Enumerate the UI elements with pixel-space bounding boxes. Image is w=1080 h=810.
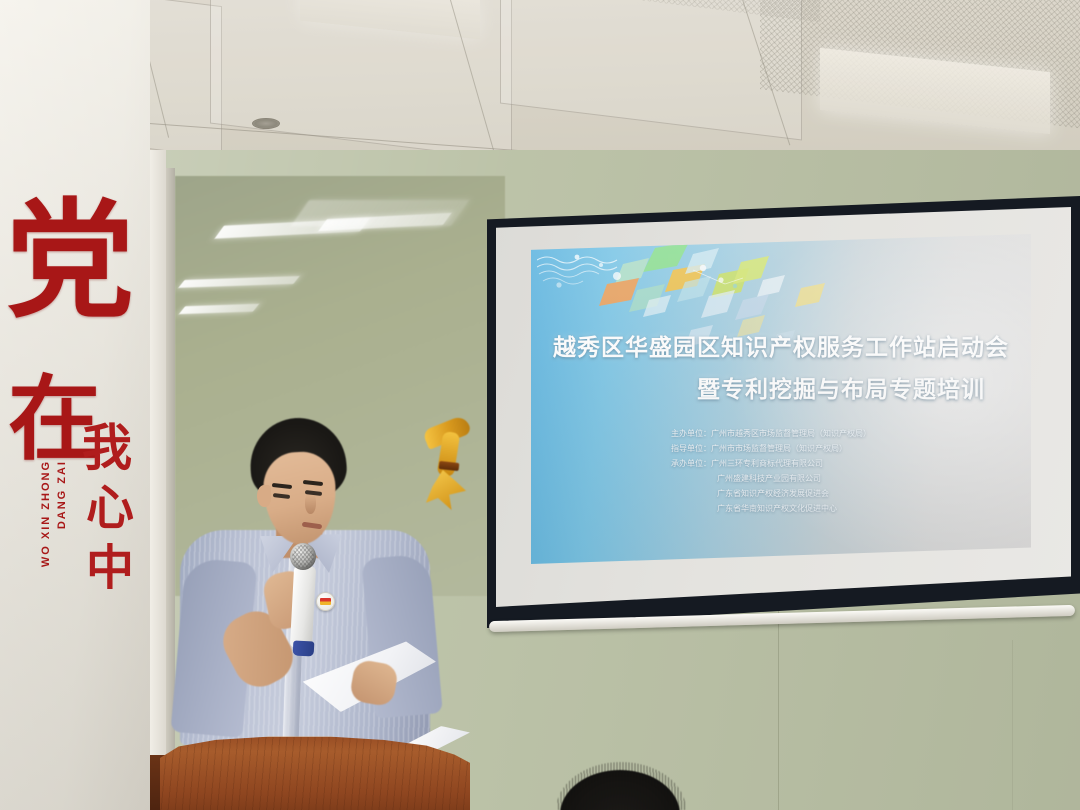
wooden-podium xyxy=(160,735,470,810)
microphone-body xyxy=(290,565,316,648)
wall-seam xyxy=(778,600,779,810)
light-reflection xyxy=(291,200,469,226)
microphone-base xyxy=(293,640,315,656)
ceiling-downlight xyxy=(252,118,280,129)
lapel-badge-icon xyxy=(316,592,335,611)
conference-photo: 党 在 我 心 中 DANG ZAI WO XIN ZHONG xyxy=(0,0,1080,810)
banner-pinyin-woxinzhong: WO XIN ZHONG xyxy=(40,460,52,567)
wall-seam xyxy=(1012,640,1013,810)
speaker-nose xyxy=(305,494,316,514)
banner-char-dang: 党 xyxy=(6,206,134,316)
speaker-ear xyxy=(257,485,271,507)
banner-char-zhong: 中 xyxy=(86,528,134,598)
projection-screen: 越秀区华盛园区知识产权服务工作站启动会 暨专利挖掘与布局专题培训 主办单位：广州… xyxy=(487,196,1080,628)
microphone-head-icon xyxy=(290,543,316,570)
wall-ornament-icon xyxy=(418,418,476,514)
party-slogan-banner: 党 在 我 心 中 DANG ZAI WO XIN ZHONG xyxy=(0,0,150,810)
presentation-slide: 越秀区华盛园区知识产权服务工作站启动会 暨专利挖掘与布局专题培训 主办单位：广州… xyxy=(531,234,1031,564)
banner-pinyin-dangzai: DANG ZAI xyxy=(56,460,68,529)
